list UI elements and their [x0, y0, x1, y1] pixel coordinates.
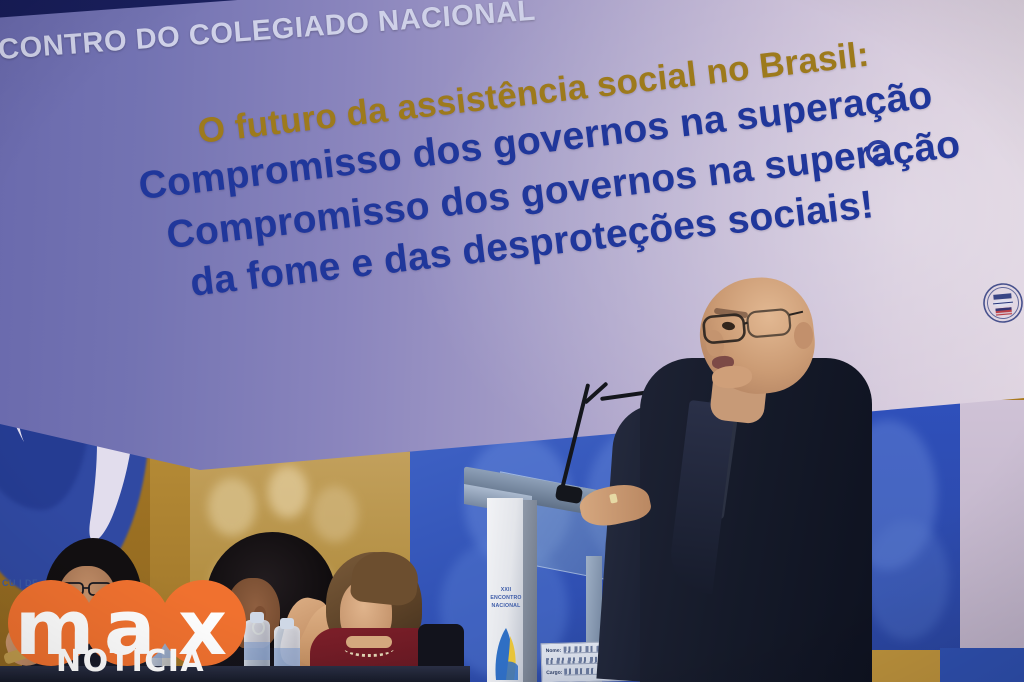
- water-bottle-3-label: [274, 648, 300, 666]
- backdrop-blue-strip-bottom-right: [940, 648, 1024, 682]
- backdrop-blue-panel-right: [855, 400, 970, 658]
- water-bottle-3-cap: [280, 618, 294, 629]
- name-card-nome-label: Nome:: [546, 648, 562, 654]
- podium-logo-icon: [490, 626, 522, 682]
- backdrop-lavender-panel-right: [960, 400, 1024, 650]
- backdrop-gold-strip-bottom-right: [860, 650, 940, 682]
- emblem-seal-icon: [980, 276, 1024, 329]
- watermark-subtitle: NOTÍCIA: [56, 644, 205, 679]
- podium-event-text: XXII ENCONTRO NACIONAL: [489, 586, 523, 610]
- photo-canvas: CU | DF XXII ENCONTRO DO COLEGIADO NACIO…: [0, 0, 1024, 682]
- name-card-cargo-label: Cargo:: [546, 670, 562, 676]
- podium-column-shadow: [523, 500, 537, 682]
- water-bottle-2-cap: [250, 612, 264, 623]
- person3-necklace: [344, 640, 394, 657]
